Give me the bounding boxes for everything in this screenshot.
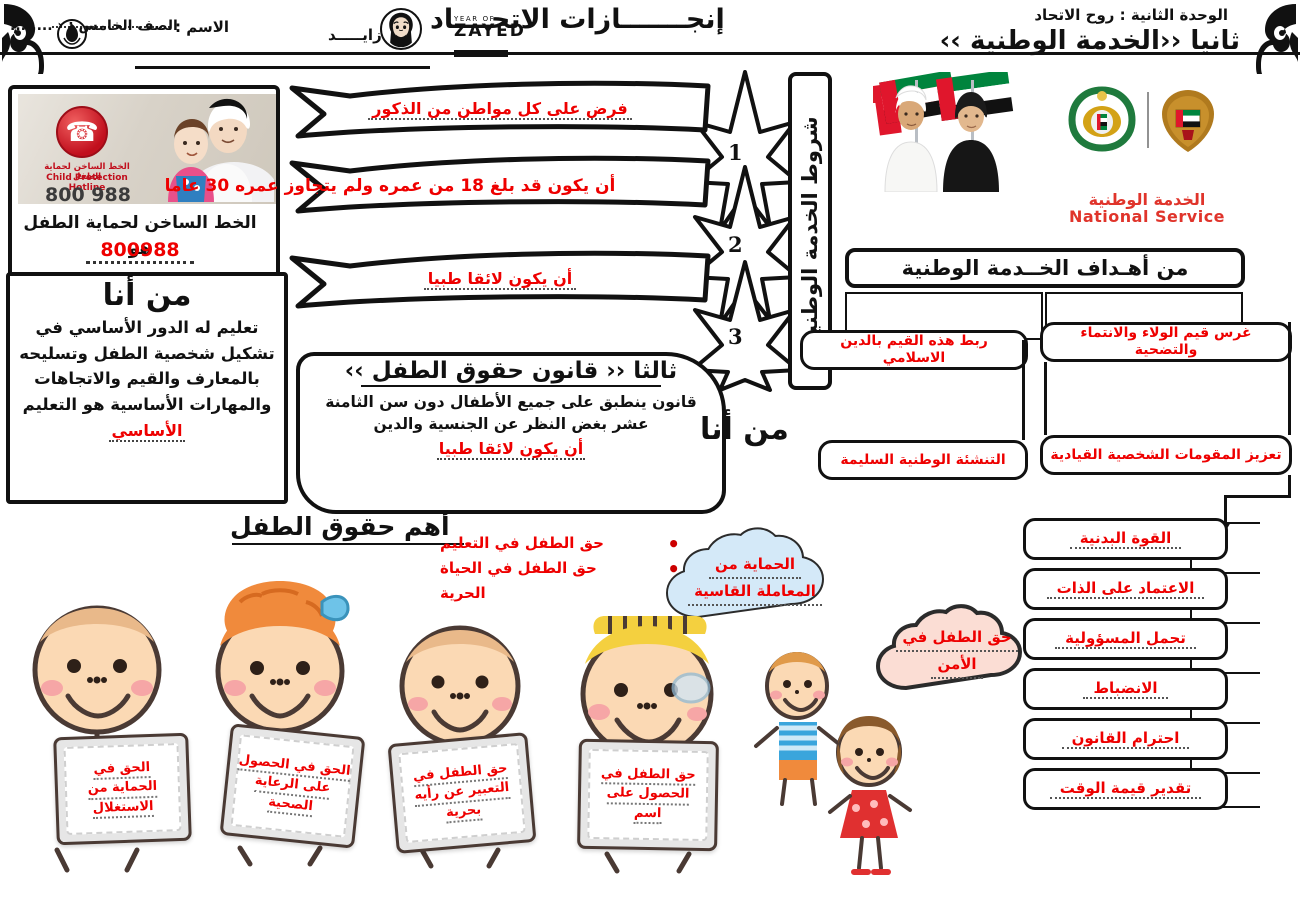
- rights-sign-text: الحق في الحصول على الرعاية الصحية: [231, 734, 355, 838]
- sign-line: الصحية: [267, 793, 314, 817]
- condition-text-2: أن يكون قد بلغ 18 من عمره ولم يتجاوز عمر…: [165, 176, 616, 196]
- zayed-portrait-icon: [380, 8, 422, 50]
- sign-line: الاستغلال: [92, 798, 153, 820]
- national-service-english: National Service: [1062, 209, 1232, 226]
- sign-line: اسم: [634, 805, 662, 825]
- rights-sign-text: حق الطفل في التعبير عن رأيه بحرية: [398, 743, 525, 843]
- trait-box[interactable]: القوة البدنية: [1023, 518, 1228, 560]
- school-crest-icon: [52, 18, 92, 52]
- child-illustration: [822, 712, 917, 887]
- condition-text-1: فرض على كل مواطن من الذكور: [368, 99, 632, 120]
- rights-sign-text: حق الطفل في الحصول على اسم: [587, 749, 709, 841]
- section-title-underline: [135, 66, 430, 69]
- trait-text: تحمل المسؤولية: [1055, 629, 1196, 649]
- who-am-i-body: تعليم له الدور الأساسي في تشكيل شخصية ال…: [10, 313, 284, 417]
- student-name-label: الاسم :: [175, 18, 229, 36]
- goal-box-2: ربط هذه القيم بالدين الاسلامي: [800, 330, 1028, 370]
- conditions-vertical-text: شروط الخدمة الوطنية: [798, 116, 822, 345]
- speech-cloud-pink: حق الطفل في الأمن: [862, 596, 1052, 708]
- who-am-i-title: من أنا: [10, 278, 284, 313]
- class-label: الصف الخامس : ‹ ........: [10, 18, 178, 34]
- rights-heading-underline: [232, 543, 464, 545]
- trait-text: القوة البدنية: [1070, 529, 1181, 549]
- sign-line: بحرية: [445, 801, 482, 824]
- corner-ornament-icon: [1236, 2, 1298, 74]
- trait-text: الانضباط: [1083, 679, 1167, 699]
- child-rights-law-answer-value: أن يكون لائقا طبيا: [437, 439, 585, 460]
- who-am-i-education-box: من أنا تعليم له الدور الأساسي في تشكيل ش…: [6, 272, 288, 504]
- condition-number-2: 2: [728, 232, 743, 257]
- year-of-zayed-english: YEAR OF ZAYED: [454, 16, 526, 40]
- sign-line: حق الطفل في: [601, 765, 696, 786]
- unit-label: الوحدة الثانية : روح الاتحاد: [1034, 6, 1228, 24]
- goal-connector-to-traits: [1288, 475, 1291, 497]
- hotline-answer-value: 800988: [100, 239, 179, 261]
- condition-ribbon-2: أن يكون قد بلغ 18 من عمره ولم يتجاوز عمر…: [290, 155, 710, 217]
- trait-text: الاعتماد على الذات: [1047, 579, 1205, 599]
- hotline-answer-line[interactable]: 800988: [12, 239, 268, 264]
- year-of-zayed-logo: زايـــــد YEAR OF ZAYED: [328, 8, 428, 52]
- condition-answer-2[interactable]: أن يكون قد بلغ 18 من عمره ولم يتجاوز عمر…: [70, 155, 710, 217]
- child-rights-law-body: قانون ينطبق على جميع الأطفال دون سن الثا…: [300, 391, 722, 436]
- child-rights-law-title: ثالثا ‹‹ قانون حقوق الطفل ››: [300, 358, 722, 384]
- condition-ribbon-3: أن يكون لائقا طبيا: [290, 250, 710, 312]
- condition-answer-1[interactable]: فرض على كل مواطن من الذكور: [290, 80, 710, 142]
- who-am-i-answer-value: الأساسي: [109, 421, 184, 442]
- goal-box-4: التنشئة الوطنية السليمة: [818, 440, 1028, 480]
- condition-number-1: 1: [728, 140, 743, 165]
- rights-sign-board[interactable]: حق الطفل في الحصول على اسم: [577, 739, 719, 851]
- goal-connector-horizontal: [1224, 495, 1291, 498]
- goal-connector-far-right: [1288, 322, 1291, 435]
- goal-connector-left: [1022, 340, 1025, 440]
- trait-box[interactable]: احترام القانون: [1023, 718, 1228, 760]
- child-rights-law-answer-line[interactable]: أن يكون لائقا طبيا: [300, 439, 722, 460]
- sign-line: الحماية من: [88, 778, 158, 800]
- cloud-pink-text[interactable]: حق الطفل في الأمن: [862, 596, 1052, 708]
- national-service-wordmark: الخدمة الوطنية National Service: [1062, 192, 1232, 226]
- condition-answer-3[interactable]: أن يكون لائقا طبيا: [290, 250, 710, 312]
- rights-sign-board[interactable]: حق الطفل في التعبير عن رأيه بحرية: [387, 732, 536, 854]
- cloud-blue-line-1: الحماية من: [709, 552, 801, 579]
- trait-box[interactable]: تقدير قيمة الوقت: [1023, 768, 1228, 810]
- trait-box[interactable]: الانضباط: [1023, 668, 1228, 710]
- national-service-photo: [855, 72, 1045, 192]
- who-am-i-label-middle: من أنا: [700, 412, 789, 447]
- goal-box-3: تعزيز المقومات الشخصية القيادية: [1040, 435, 1292, 475]
- worksheet-page: الوحدة الثانية : روح الاتحاد ثانيا ‹‹الخ…: [0, 0, 1300, 900]
- trait-text: احترام القانون: [1062, 729, 1190, 749]
- sign-line: الحق في: [93, 759, 150, 781]
- trait-box[interactable]: تحمل المسؤولية: [1023, 618, 1228, 660]
- who-am-i-answer-line[interactable]: الأساسي: [10, 421, 284, 442]
- list-item: حق الطفل في التعليم: [440, 534, 680, 552]
- goals-title: من أهـداف الخــدمة الوطنية: [845, 248, 1245, 288]
- logo-dash: [454, 50, 508, 57]
- rights-heading: أهم حقوق الطفل: [230, 512, 450, 541]
- national-service-emblems: [1060, 82, 1230, 160]
- rights-sign-board[interactable]: الحق في الحصول على الرعاية الصحية: [220, 723, 366, 848]
- phone-icon: [56, 106, 108, 158]
- condition-number-3: 3: [728, 324, 743, 349]
- cloud-pink-line-2: الأمن: [931, 652, 982, 679]
- goal-box-1: غرس قيم الولاء والانتماء والتضحية: [1040, 322, 1292, 362]
- zayed-name-arabic: زايـــــد: [328, 26, 382, 44]
- section-title: ثانيا ‹‹الخدمة الوطنية ››: [940, 26, 1240, 56]
- sign-line: الحصول على: [606, 784, 689, 805]
- trait-box[interactable]: الاعتماد على الذات: [1023, 568, 1228, 610]
- goal-connector-right: [1044, 362, 1047, 435]
- cloud-pink-line-1: حق الطفل في: [896, 625, 1017, 652]
- zayed-label: ZAYED: [454, 23, 526, 40]
- condition-text-3: أن يكون لائقا طبيا: [424, 269, 576, 290]
- rights-sign-text: الحق في الحماية من الاستغلال: [63, 743, 181, 835]
- list-item: حق الطفل في الحياة: [440, 559, 680, 577]
- condition-ribbon-1: فرض على كل مواطن من الذكور: [290, 80, 710, 142]
- trait-text: تقدير قيمة الوقت: [1050, 779, 1201, 799]
- law-title-underline: [361, 385, 661, 387]
- child-rights-law-box: ثالثا ‹‹ قانون حقوق الطفل ›› قانون ينطبق…: [296, 352, 726, 514]
- rights-sign-board[interactable]: الحق في الحماية من الاستغلال: [53, 733, 192, 846]
